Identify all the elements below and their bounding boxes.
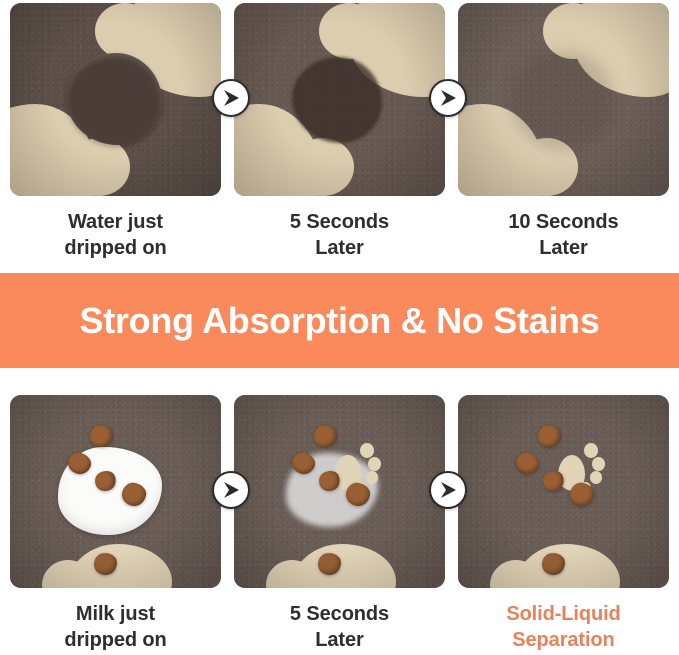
caption-line-2: Later bbox=[290, 628, 389, 654]
caption-line-1: Water just bbox=[64, 210, 166, 236]
photo-vignette bbox=[234, 3, 445, 196]
panel-milk-absorbed: Solid-Liquid Separation bbox=[458, 395, 669, 653]
caption-milk-5s: 5 Seconds Later bbox=[290, 602, 389, 653]
panel-water-5s: 5 Seconds Later bbox=[234, 3, 445, 261]
panel-milk-5s: 5 Seconds Later bbox=[234, 395, 445, 653]
photo-vignette bbox=[458, 3, 669, 196]
photo-milk-absorbed bbox=[458, 395, 669, 588]
caption-milk-absorbed: Solid-Liquid Separation bbox=[506, 602, 620, 653]
top-panel-row: Water just dripped on 5 Seconds Later bbox=[0, 3, 679, 261]
caption-line-1: 5 Seconds bbox=[290, 602, 389, 628]
absorption-infographic: Water just dripped on 5 Seconds Later bbox=[0, 0, 679, 655]
panel-water-fresh: Water just dripped on bbox=[10, 3, 221, 261]
caption-line-1: Solid-Liquid bbox=[506, 602, 620, 628]
photo-milk-fresh bbox=[10, 395, 221, 588]
caption-water-5s: 5 Seconds Later bbox=[290, 210, 389, 261]
headline-text: Strong Absorption & No Stains bbox=[80, 300, 600, 342]
photo-milk-5s bbox=[234, 395, 445, 588]
photo-water-10s bbox=[458, 3, 669, 196]
photo-water-5s bbox=[234, 3, 445, 196]
caption-line-2: Separation bbox=[506, 628, 620, 654]
arrow-right-icon bbox=[429, 471, 467, 509]
bottom-panel-row: Milk just dripped on bbox=[0, 395, 679, 653]
photo-vignette bbox=[10, 395, 221, 588]
photo-vignette bbox=[10, 3, 221, 196]
headline-banner: Strong Absorption & No Stains bbox=[0, 273, 679, 368]
caption-water-10s: 10 Seconds Later bbox=[508, 210, 618, 261]
arrow-right-icon bbox=[212, 471, 250, 509]
caption-milk-fresh: Milk just dripped on bbox=[64, 602, 166, 653]
panel-milk-fresh: Milk just dripped on bbox=[10, 395, 221, 653]
photo-vignette bbox=[458, 395, 669, 588]
caption-line-1: Milk just bbox=[64, 602, 166, 628]
caption-line-1: 5 Seconds bbox=[290, 210, 389, 236]
caption-water-fresh: Water just dripped on bbox=[64, 210, 166, 261]
caption-line-2: dripped on bbox=[64, 236, 166, 262]
photo-water-fresh bbox=[10, 3, 221, 196]
caption-line-2: dripped on bbox=[64, 628, 166, 654]
arrow-right-icon bbox=[429, 79, 467, 117]
panel-water-10s: 10 Seconds Later bbox=[458, 3, 669, 261]
caption-line-2: Later bbox=[290, 236, 389, 262]
caption-line-1: 10 Seconds bbox=[508, 210, 618, 236]
caption-line-2: Later bbox=[508, 236, 618, 262]
photo-vignette bbox=[234, 395, 445, 588]
arrow-right-icon bbox=[212, 79, 250, 117]
